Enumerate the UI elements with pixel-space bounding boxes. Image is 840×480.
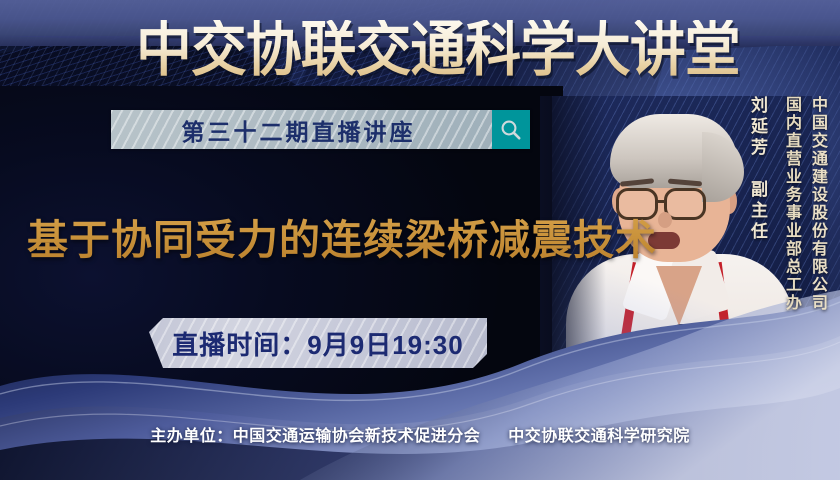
- speaker-credits: 刘延芳 副主任 国内直营业务事业部总工办 中国交通建设股份有限公司: [736, 96, 826, 312]
- search-icon: [499, 118, 523, 142]
- episode-subtitle-bar: 第三十二期直播讲座: [111, 110, 530, 149]
- speaker-department: 国内直营业务事业部总工办: [774, 96, 800, 312]
- lecture-headline: 基于协同受力的连续梁桥减震技术: [27, 206, 657, 266]
- page-title: 中交协联交通科学大讲堂: [136, 20, 740, 80]
- speaker-company: 中国交通建设股份有限公司: [800, 96, 826, 312]
- footer-organizer-2: 中交协联交通科学研究院: [508, 428, 690, 445]
- episode-subtitle-background: 第三十二期直播讲座: [111, 110, 492, 149]
- search-icon-button[interactable]: [492, 110, 530, 149]
- broadcast-time-badge: 直播时间：9月9日19:30: [149, 318, 487, 368]
- footer-organizer-1: 中国交通运输协会新技术促进分会: [233, 428, 481, 445]
- footer-prefix: 主办单位：: [150, 428, 233, 445]
- footer-organizers: 主办单位：中国交通运输协会新技术促进分会中交协联交通科学研究院: [0, 422, 840, 446]
- speaker-name-title: 刘延芳 副主任: [736, 96, 766, 243]
- live-lecture-poster: 中交协联交通科学大讲堂 第三十二期直播讲座 基于协同受力的连续梁桥减震技术 直播…: [0, 0, 840, 480]
- broadcast-time-label: 直播时间：9月9日19:30: [149, 318, 487, 368]
- episode-subtitle-label: 第三十二期直播讲座: [111, 110, 492, 149]
